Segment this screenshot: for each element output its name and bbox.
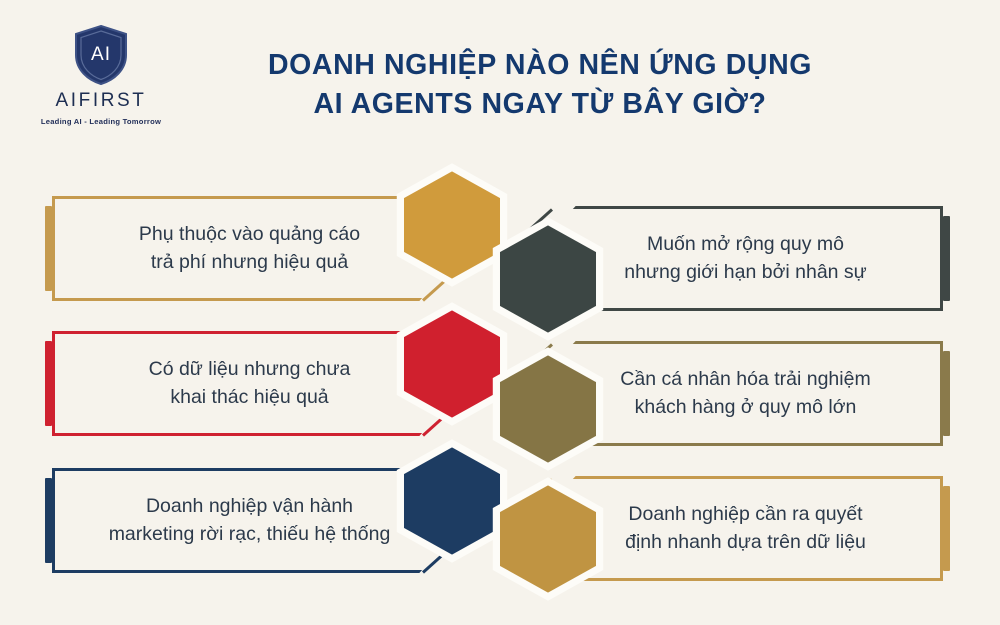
card-personalization-connector	[526, 343, 553, 368]
card-personalization-box[interactable]: Cần cá nhân hóa trải nghiệmkhách hàng ở …	[548, 341, 943, 446]
card-personalization-text: Cần cá nhân hóa trải nghiệmkhách hàng ở …	[606, 366, 884, 421]
card-unused-data-text: Có dữ liệu nhưng chưakhai thác hiệu quả	[135, 356, 365, 411]
card-fragmented-marketing-edge-accent	[45, 478, 52, 563]
card-scale-headcount-line-2: nhưng giới hạn bởi nhân sự	[624, 259, 867, 287]
page-title-line-2: AI AGENTS NGAY TỪ BÂY GIỜ?	[190, 85, 890, 124]
card-fast-decisions-line-1: Doanh nghiệp cần ra quyết	[625, 501, 866, 529]
card-paid-ads-line-2: trả phí nhưng hiệu quả	[139, 249, 360, 277]
card-scale-headcount-connector	[526, 208, 553, 233]
page-title: DOANH NGHIỆP NÀO NÊN ỨNG DỤNG AI AGENTS …	[190, 46, 890, 124]
page-title-line-1: DOANH NGHIỆP NÀO NÊN ỨNG DỤNG	[190, 46, 890, 85]
card-scale-headcount-edge-accent	[943, 216, 950, 301]
card-fast-decisions-text: Doanh nghiệp cần ra quyếtđịnh nhanh dựa …	[611, 501, 880, 556]
card-paid-ads-text: Phụ thuộc vào quảng cáotrả phí nhưng hiệ…	[125, 221, 374, 276]
card-fragmented-marketing-line-2: marketing rời rạc, thiếu hệ thống	[109, 521, 391, 549]
card-fragmented-marketing-text: Doanh nghiệp vận hànhmarketing rời rạc, …	[95, 493, 405, 548]
svg-text:AI: AI	[91, 44, 111, 65]
card-paid-ads-box[interactable]: Phụ thuộc vào quảng cáotrả phí nhưng hiệ…	[52, 196, 447, 301]
card-unused-data-box[interactable]: Có dữ liệu nhưng chưakhai thác hiệu quả	[52, 331, 447, 436]
card-unused-data-line-1: Có dữ liệu nhưng chưa	[149, 356, 351, 384]
card-fast-decisions-box[interactable]: Doanh nghiệp cần ra quyếtđịnh nhanh dựa …	[548, 476, 943, 581]
card-scale-headcount-box[interactable]: Muốn mở rộng quy mônhưng giới hạn bởi nh…	[548, 206, 943, 311]
card-personalization-line-2: khách hàng ở quy mô lớn	[620, 394, 870, 422]
card-scale-headcount-text: Muốn mở rộng quy mônhưng giới hạn bởi nh…	[610, 231, 881, 286]
card-paid-ads-edge-accent	[45, 206, 52, 291]
card-scale-headcount-line-1: Muốn mở rộng quy mô	[624, 231, 867, 259]
card-fragmented-marketing-line-1: Doanh nghiệp vận hành	[109, 493, 391, 521]
logo-wordmark: AIFIRST	[26, 90, 176, 112]
card-unused-data-edge-accent	[45, 341, 52, 426]
card-fragmented-marketing-box[interactable]: Doanh nghiệp vận hànhmarketing rời rạc, …	[52, 468, 447, 573]
logo-tagline: Leading AI - Leading Tomorrow	[26, 117, 176, 126]
card-fast-decisions-connector	[526, 478, 553, 503]
card-personalization-edge-accent	[943, 351, 950, 436]
card-fast-decisions-line-2: định nhanh dựa trên dữ liệu	[625, 529, 866, 557]
brand-logo: AI AIFIRST Leading AI - Leading Tomorrow	[26, 24, 176, 142]
card-unused-data-line-2: khai thác hiệu quả	[149, 384, 351, 412]
card-fast-decisions-edge-accent	[943, 486, 950, 571]
card-paid-ads-line-1: Phụ thuộc vào quảng cáo	[139, 221, 360, 249]
shield-icon: AI	[26, 24, 176, 86]
card-personalization-line-1: Cần cá nhân hóa trải nghiệm	[620, 366, 870, 394]
